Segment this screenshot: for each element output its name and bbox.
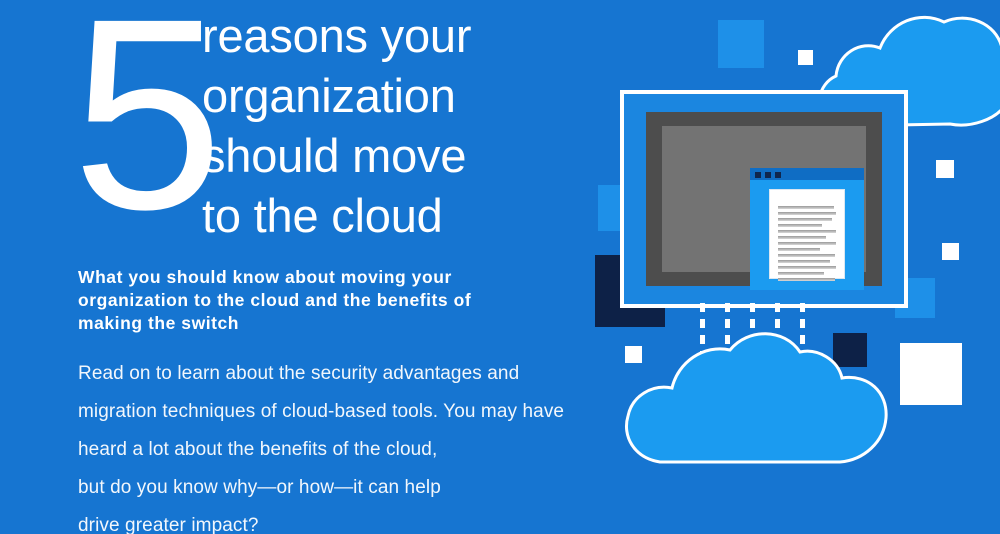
doc-text-line bbox=[778, 224, 822, 227]
body-line-3: heard a lot about the benefits of the cl… bbox=[78, 431, 618, 469]
doc-text-line bbox=[778, 254, 835, 257]
doc-text-line bbox=[778, 266, 836, 269]
document-page bbox=[770, 190, 844, 278]
computer-monitor bbox=[620, 90, 908, 308]
headline-block: 5 reasons your organization should move … bbox=[72, 0, 592, 250]
square-white-mid-right bbox=[942, 243, 959, 260]
doc-text-line bbox=[778, 272, 824, 275]
document-window[interactable] bbox=[750, 168, 864, 290]
window-dot-icon-3 bbox=[775, 172, 781, 178]
doc-text-line bbox=[778, 260, 830, 263]
text-column: 5 reasons your organization should move … bbox=[0, 0, 600, 534]
doc-text-line bbox=[778, 236, 826, 239]
cloud-illustration bbox=[540, 0, 1000, 534]
monitor-screen bbox=[662, 126, 866, 272]
body-line-1: Read on to learn about the security adva… bbox=[78, 355, 618, 393]
cloud-bottom bbox=[620, 330, 890, 470]
square-white-upper-right bbox=[936, 160, 954, 178]
square-white-top-small bbox=[798, 50, 813, 65]
window-title-bar bbox=[750, 168, 864, 180]
subheadline: What you should know about moving your o… bbox=[78, 266, 598, 335]
window-dot-icon-2 bbox=[765, 172, 771, 178]
square-white-large-right bbox=[900, 343, 962, 405]
square-light-blue-top bbox=[718, 20, 764, 68]
body-line-4: but do you know why—or how—it can help bbox=[78, 469, 618, 507]
subheadline-line-2: organization to the cloud and the benefi… bbox=[78, 289, 598, 312]
doc-text-line bbox=[778, 230, 836, 233]
body-line-2: migration techniques of cloud-based tool… bbox=[78, 393, 618, 431]
subheadline-line-3: making the switch bbox=[78, 312, 598, 335]
infographic-canvas: 5 reasons your organization should move … bbox=[0, 0, 1000, 534]
doc-text-line bbox=[778, 218, 832, 221]
doc-text-line bbox=[778, 206, 834, 209]
window-dot-icon-1 bbox=[755, 172, 761, 178]
doc-text-line bbox=[778, 242, 836, 245]
doc-text-line bbox=[778, 278, 835, 281]
body-line-5: drive greater impact? bbox=[78, 507, 618, 534]
body-paragraph: Read on to learn about the security adva… bbox=[78, 355, 618, 534]
headline-number: 5 bbox=[72, 0, 219, 250]
doc-text-line bbox=[778, 248, 820, 251]
subheadline-line-1: What you should know about moving your bbox=[78, 266, 598, 289]
doc-text-line bbox=[778, 212, 836, 215]
